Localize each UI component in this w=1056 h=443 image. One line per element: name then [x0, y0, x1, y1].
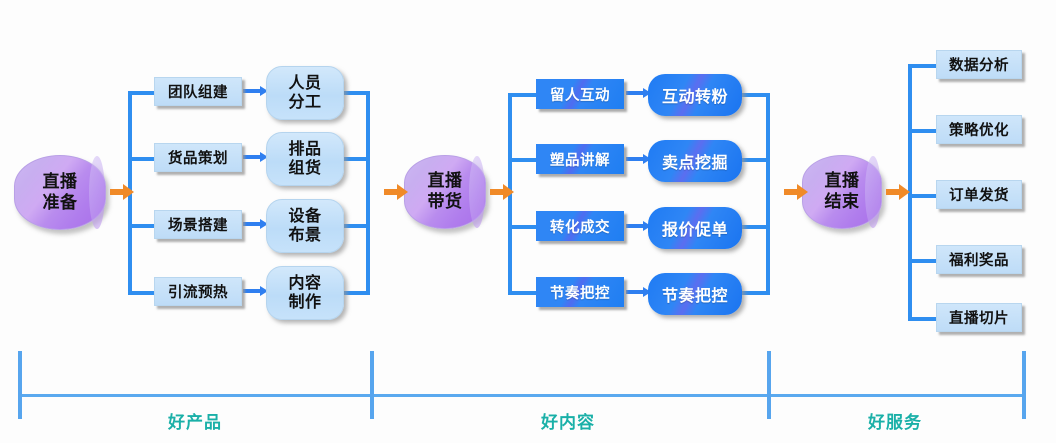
task-box-data-analysis[interactable]: 数据分析	[936, 50, 1022, 79]
bracket2-branch-1	[508, 93, 538, 97]
output-box-equipment-set[interactable]: 设备 布景	[266, 199, 344, 253]
task-label: 数据分析	[949, 54, 1009, 75]
bracket3-branch-5	[908, 317, 938, 321]
bracket2-branch-2	[508, 158, 538, 162]
blue-arrow-s1-3	[243, 222, 261, 226]
bracket1-right-branch-4	[344, 291, 370, 295]
orange-arrow-4	[784, 189, 798, 195]
task-label: 直播切片	[949, 307, 1009, 328]
blue-arrow-s2-1	[626, 91, 644, 95]
bracket1-branch-4	[128, 291, 156, 295]
bracket2-branch-4	[508, 291, 538, 295]
bracket1-right-branch-1	[344, 91, 370, 95]
task-box-traffic-warmup[interactable]: 引流预热	[154, 277, 242, 306]
output-label: 排品 组货	[288, 140, 321, 178]
orange-arrow-5	[886, 189, 900, 195]
stage-node-prepare[interactable]: 直播 准备	[14, 155, 106, 230]
task-box-order-shipping[interactable]: 订单发货	[936, 180, 1022, 209]
task-label: 转化成交	[550, 216, 610, 237]
output-box-selling-point[interactable]: 卖点挖掘	[648, 140, 742, 182]
orange-arrow-1	[110, 189, 124, 195]
task-box-product-explain[interactable]: 塑品讲解	[536, 144, 624, 174]
axis-label-good-product: 好产品	[120, 408, 270, 433]
bracket2-right-spine	[766, 93, 770, 295]
axis-tick-start	[18, 351, 22, 419]
bracket2-branch-3	[508, 225, 538, 229]
axis-label-text: 好内容	[541, 413, 595, 432]
output-label: 节奏把控	[662, 282, 728, 306]
axis-tick-1	[370, 351, 374, 419]
bracket2-right-branch-4	[742, 291, 770, 295]
task-box-live-clip[interactable]: 直播切片	[936, 303, 1022, 332]
task-label: 团队组建	[168, 81, 228, 102]
task-label: 节奏把控	[550, 282, 610, 303]
task-label: 留人互动	[550, 84, 610, 105]
bracket1-branch-1	[128, 91, 156, 95]
output-label: 人员 分工	[288, 74, 321, 112]
output-box-product-sort[interactable]: 排品 组货	[266, 132, 344, 186]
bracket2-right-branch-3	[742, 225, 770, 229]
task-box-conversion-deal[interactable]: 转化成交	[536, 211, 624, 241]
axis-label-text: 好服务	[868, 413, 922, 432]
stage-node-end[interactable]: 直播 结束	[802, 155, 882, 229]
task-box-rhythm-control[interactable]: 节奏把控	[536, 277, 624, 307]
bracket2-right-branch-2	[742, 158, 770, 162]
task-box-welfare-prize[interactable]: 福利奖品	[936, 245, 1022, 274]
bracket3-branch-4	[908, 259, 938, 263]
bracket1-branch-3	[128, 224, 156, 228]
output-label: 报价促单	[662, 216, 728, 240]
bracket3-branch-1	[908, 64, 938, 68]
task-label: 订单发货	[949, 184, 1009, 205]
task-box-team-build[interactable]: 团队组建	[154, 77, 242, 106]
task-label: 货品策划	[168, 147, 228, 168]
bracket3-branch-3	[908, 194, 938, 198]
axis-tick-end	[1022, 351, 1026, 419]
blue-arrow-s2-2	[626, 157, 644, 161]
output-box-staff-division[interactable]: 人员 分工	[266, 66, 344, 120]
stage-node-selling[interactable]: 直播 带货	[404, 155, 486, 229]
axis-label-good-content: 好内容	[493, 408, 643, 433]
task-box-strategy-optimize[interactable]: 策略优化	[936, 115, 1022, 144]
bracket1-right-branch-2	[344, 157, 370, 161]
blue-arrow-s2-3	[626, 224, 644, 228]
stage-label-prepare: 直播 准备	[43, 172, 78, 213]
axis-tick-2	[767, 351, 771, 419]
diagram-canvas: 直播 准备 团队组建 货品策划 场景搭建 引流预热 人员 分工 排品 组货 设备…	[0, 0, 1056, 443]
axis-baseline	[18, 394, 1026, 397]
task-label: 场景搭建	[168, 214, 228, 235]
output-label: 卖点挖掘	[662, 149, 728, 173]
stage-label-end: 直播 结束	[825, 171, 860, 212]
axis-label-good-service: 好服务	[820, 408, 970, 433]
orange-arrow-3	[490, 189, 504, 195]
output-label: 互动转粉	[662, 83, 728, 107]
bracket1-right-branch-3	[344, 224, 370, 228]
blue-arrow-s2-4	[626, 290, 644, 294]
task-label: 塑品讲解	[550, 149, 610, 170]
output-box-rhythm-control[interactable]: 节奏把控	[648, 273, 742, 315]
output-box-quote-urge-order[interactable]: 报价促单	[648, 207, 742, 249]
blue-arrow-s1-1	[243, 89, 261, 93]
task-box-retain-interact[interactable]: 留人互动	[536, 79, 624, 109]
bracket2-right-branch-1	[742, 93, 770, 97]
output-box-interact-to-fans[interactable]: 互动转粉	[648, 74, 742, 116]
output-label: 内容 制作	[288, 274, 321, 312]
blue-arrow-s1-2	[243, 155, 261, 159]
bracket1-branch-2	[128, 157, 156, 161]
stage-label-selling: 直播 带货	[428, 171, 463, 212]
task-box-scene-setup[interactable]: 场景搭建	[154, 210, 242, 239]
task-label: 福利奖品	[949, 249, 1009, 270]
bracket1-right-spine	[366, 91, 370, 295]
bracket3-branch-2	[908, 129, 938, 133]
task-label: 策略优化	[949, 119, 1009, 140]
output-label: 设备 布景	[288, 207, 321, 245]
task-label: 引流预热	[168, 281, 228, 302]
task-box-goods-plan[interactable]: 货品策划	[154, 143, 242, 172]
axis-label-text: 好产品	[168, 413, 222, 432]
orange-arrow-2	[384, 189, 398, 195]
blue-arrow-s1-4	[243, 289, 261, 293]
output-box-content-make[interactable]: 内容 制作	[266, 266, 344, 320]
